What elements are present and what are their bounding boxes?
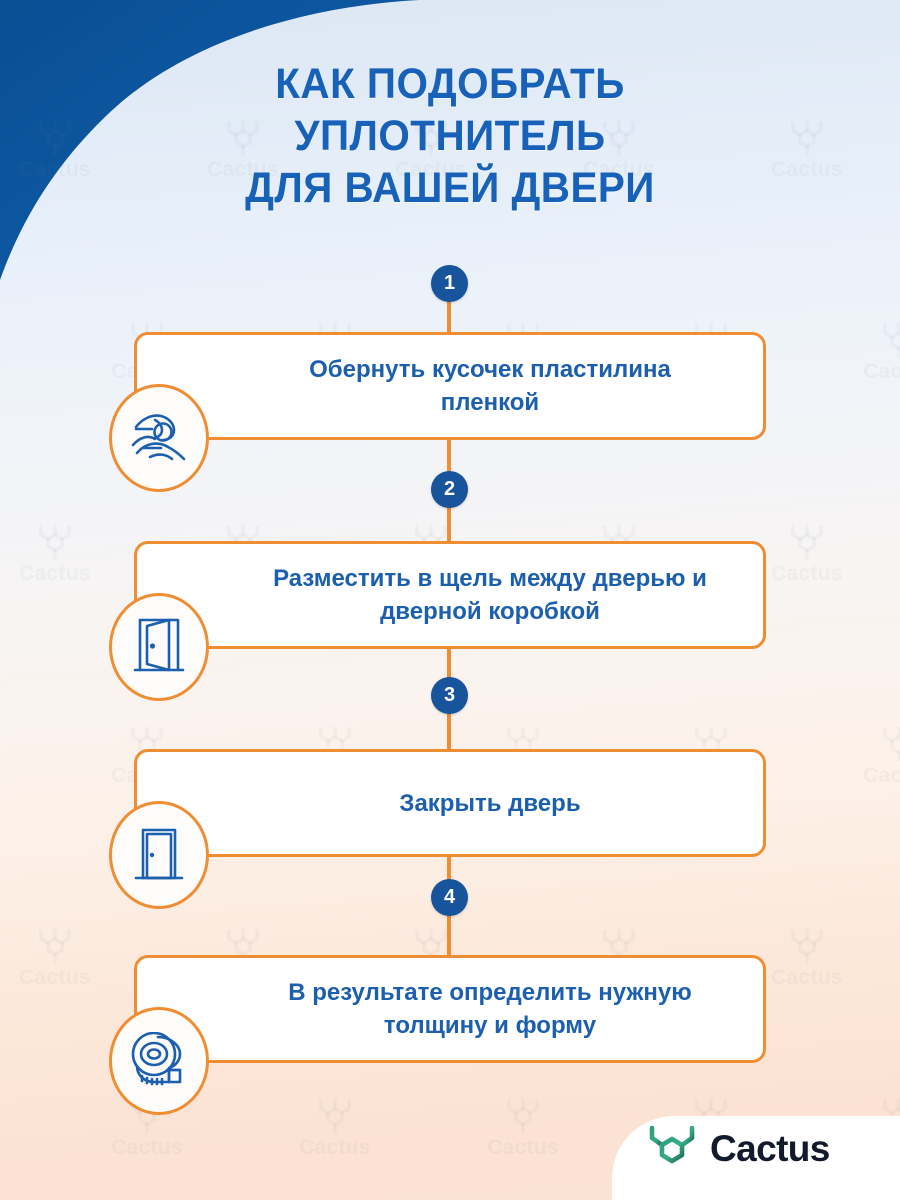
step-4-box[interactable]: В результате определить нужную толщину и… — [134, 955, 766, 1063]
steps-flowchart: 1 2 3 4 Обернуть кусочек пластилина плен… — [0, 0, 900, 1200]
step-2[interactable]: Разместить в щель между дверью и дверной… — [134, 541, 766, 649]
brand-logo[interactable]: Cactus — [648, 1124, 830, 1174]
step-badge-4: 4 — [431, 879, 468, 916]
cactus-trident-logo-icon — [648, 1124, 696, 1174]
step-4-label: В результате определить нужную толщину и… — [137, 976, 763, 1042]
step-3-label: Закрыть дверь — [137, 787, 763, 820]
step-badge-1: 1 — [431, 265, 468, 302]
step-1-label: Обернуть кусочек пластилина пленкой — [137, 353, 763, 419]
infographic-poster: Cactus Cactus Cactus Cactus — [0, 0, 900, 1200]
measuring-tape-icon — [109, 1007, 209, 1115]
step-1[interactable]: Обернуть кусочек пластилина пленкой — [134, 332, 766, 440]
step-1-box[interactable]: Обернуть кусочек пластилина пленкой — [134, 332, 766, 440]
closed-door-icon — [109, 801, 209, 909]
brand-name: Cactus — [710, 1128, 830, 1170]
step-3-box[interactable]: Закрыть дверь — [134, 749, 766, 857]
open-door-icon — [109, 593, 209, 701]
hands-wrapping-plasticine-icon — [109, 384, 209, 492]
step-badge-2: 2 — [431, 471, 468, 508]
step-3[interactable]: Закрыть дверь — [134, 749, 766, 857]
step-badge-3: 3 — [431, 677, 468, 714]
step-2-box[interactable]: Разместить в щель между дверью и дверной… — [134, 541, 766, 649]
step-4[interactable]: В результате определить нужную толщину и… — [134, 955, 766, 1063]
step-2-label: Разместить в щель между дверью и дверной… — [137, 562, 763, 628]
